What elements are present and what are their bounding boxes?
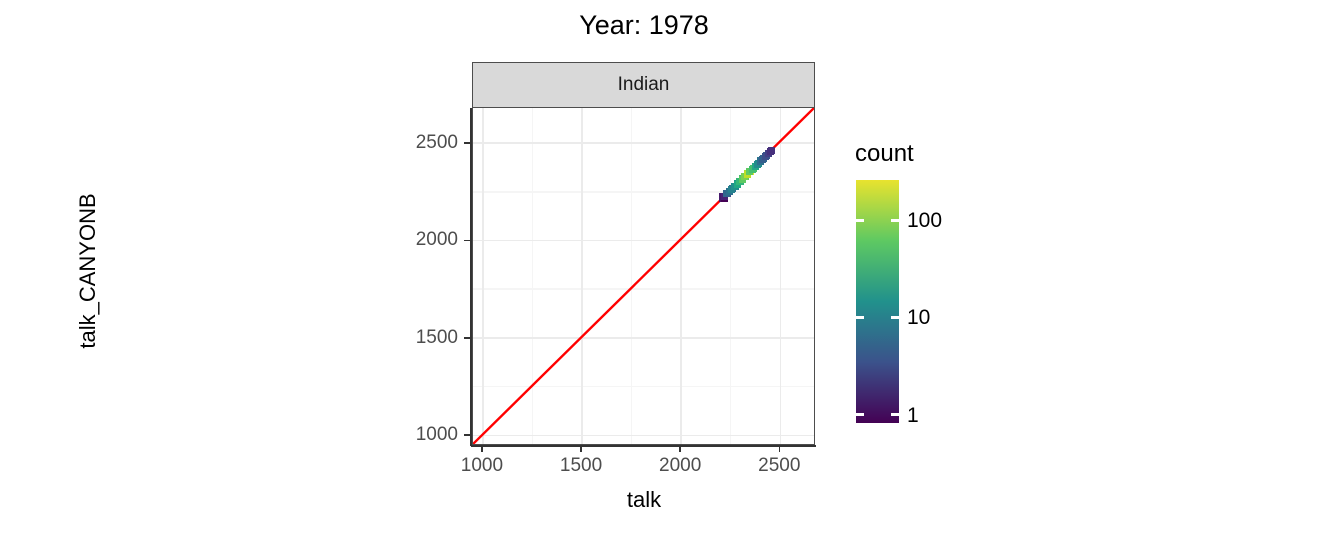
plot-panel — [472, 108, 815, 445]
y-axis-tick — [464, 337, 470, 339]
legend-title: count — [855, 140, 914, 168]
legend-tick-left — [856, 413, 864, 416]
x-axis-tick — [679, 446, 681, 452]
legend-tick-left — [856, 316, 864, 319]
ggplot-figure: Year: 1978 Indian 1000150020002500100015… — [0, 0, 1344, 537]
y-axis-tick-label: 1000 — [358, 425, 458, 444]
legend-colorbar — [856, 180, 899, 423]
binned-tiles-layer — [473, 108, 814, 444]
x-axis-title: talk — [472, 487, 816, 513]
legend-tick-label: 100 — [907, 210, 942, 231]
x-axis-tick — [779, 446, 781, 452]
y-axis-line — [470, 108, 472, 446]
legend-tick-right — [891, 219, 899, 222]
y-axis-title: talk_CANYONB — [75, 121, 101, 421]
legend-tick-right — [891, 316, 899, 319]
legend: count 110100 — [845, 140, 975, 440]
y-axis-tick — [464, 142, 470, 144]
plot-title: Year: 1978 — [472, 8, 816, 42]
y-axis-tick-label: 2000 — [358, 230, 458, 249]
y-axis-tick — [464, 240, 470, 242]
legend-tick-right — [891, 413, 899, 416]
y-axis-tick — [464, 434, 470, 436]
y-axis-tick-label: 1500 — [358, 328, 458, 347]
x-axis-tick — [481, 446, 483, 452]
legend-tick-label: 1 — [907, 405, 919, 426]
legend-tick-left — [856, 219, 864, 222]
x-axis-tick-label: 1000 — [437, 455, 527, 477]
bin-tile — [767, 148, 774, 155]
x-axis-tick — [580, 446, 582, 452]
legend-tick-label: 10 — [907, 307, 930, 328]
facet-strip: Indian — [472, 62, 815, 108]
x-axis-tick-label: 2500 — [734, 455, 824, 477]
facet-strip-label: Indian — [473, 63, 814, 107]
y-axis-tick-label: 2500 — [358, 133, 458, 152]
x-axis-tick-label: 1500 — [536, 455, 626, 477]
x-axis-tick-label: 2000 — [635, 455, 725, 477]
x-axis-line — [471, 445, 816, 447]
